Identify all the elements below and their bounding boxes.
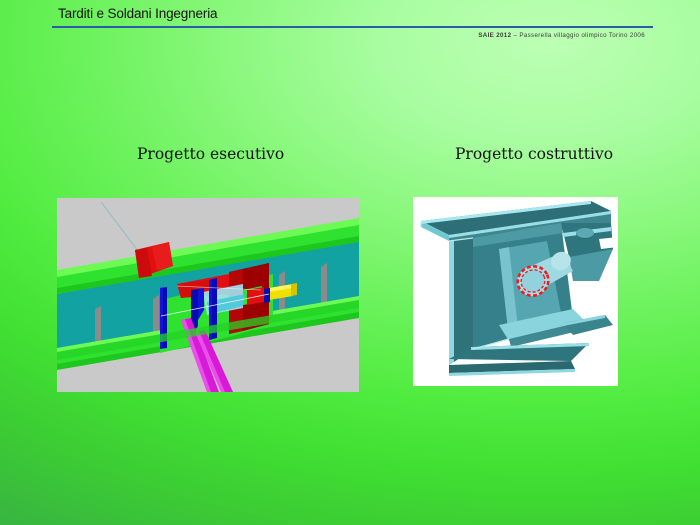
construction-render-canvas [413,197,618,386]
deck-label-event: SAIE 2012 [478,32,511,39]
header-divider-rule [52,26,653,28]
presentation-slide: Tarditi e Soldani Ingegneria SAIE 2012 –… [0,0,700,525]
deck-label-project: Passerella villaggio olimpico Torino 200… [519,32,645,39]
section-caption-executive: Progetto esecutivo [137,145,284,163]
deck-label: SAIE 2012 – Passerella villaggio olimpic… [478,32,645,39]
executive-design-3d-render [57,198,359,392]
executive-render-canvas [57,198,359,392]
construction-design-3d-render [413,197,618,386]
section-caption-construction: Progetto costruttivo [455,145,613,163]
header-company-name: Tarditi e Soldani Ingegneria [58,6,217,21]
